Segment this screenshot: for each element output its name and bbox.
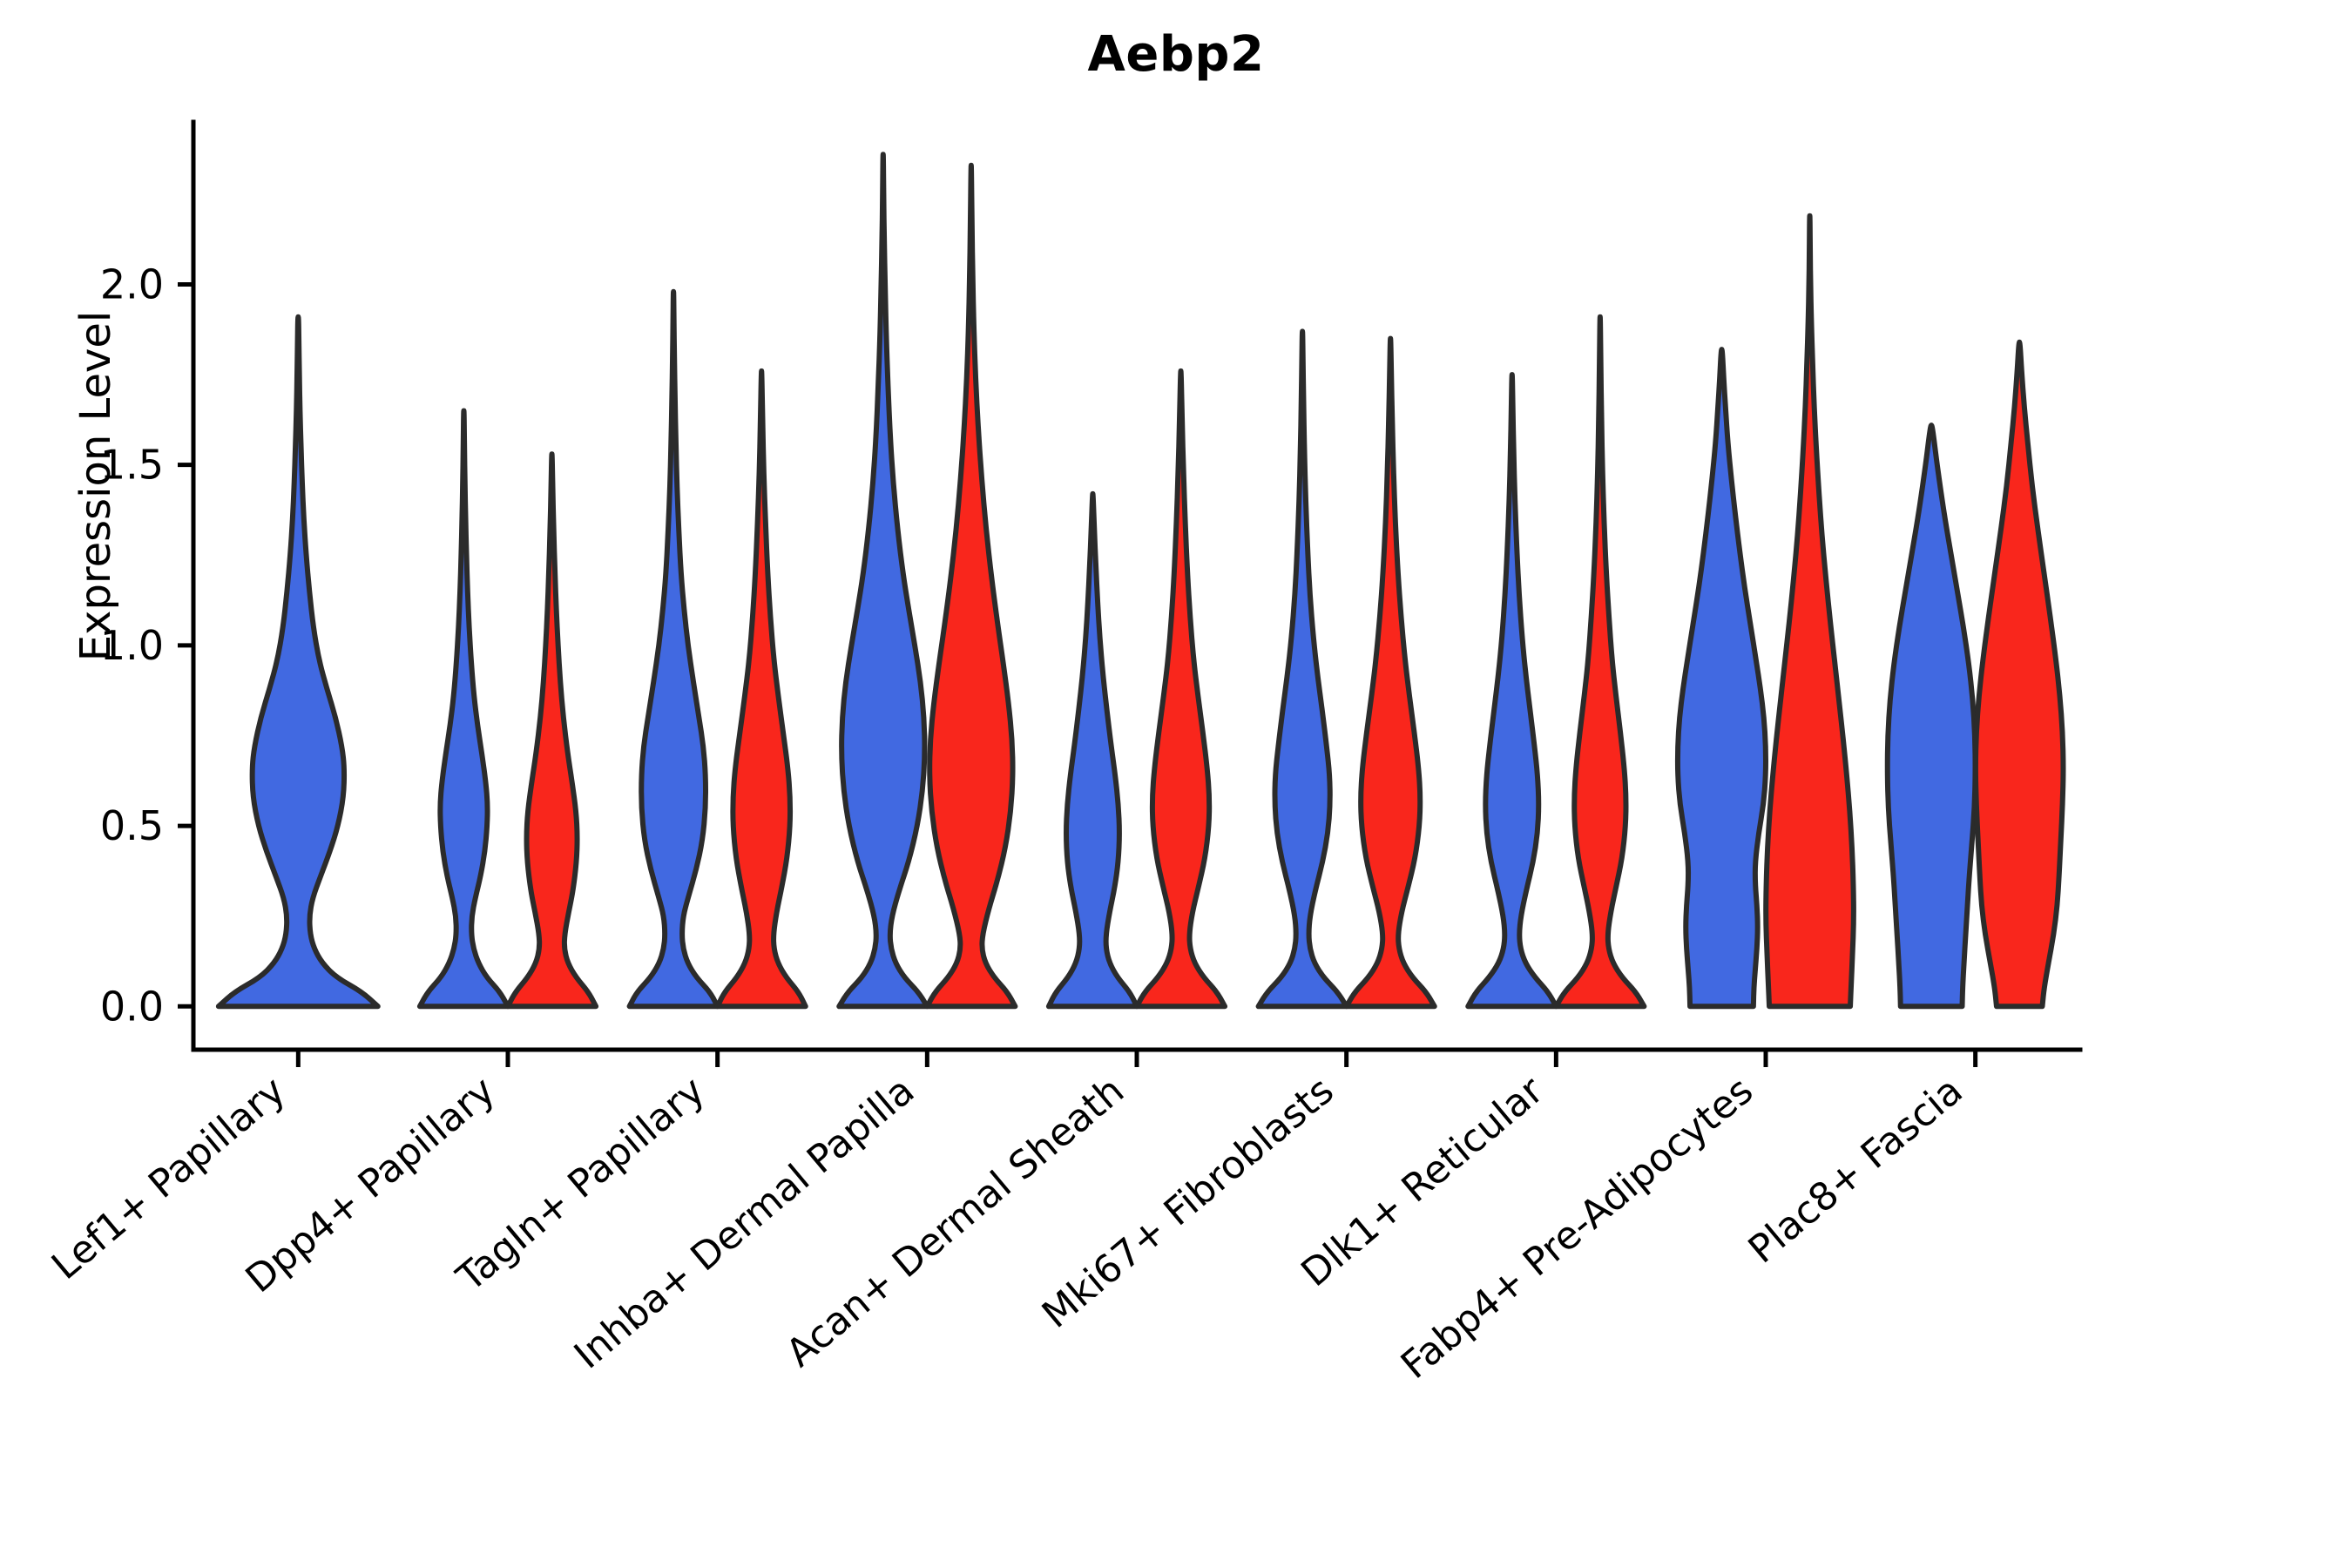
x-tick-labels: Lef1+ PapillaryDpp4+ PapillaryTagIn+ Pap… bbox=[44, 1068, 1971, 1388]
violin-2-b bbox=[508, 454, 596, 1006]
violin-1-a bbox=[219, 317, 378, 1007]
violin-9-a bbox=[1888, 425, 1976, 1006]
x-tick-label-7: Fabp4+ Pre-Adipocytes bbox=[1393, 1068, 1761, 1388]
y-tick-label-4: 2.0 bbox=[100, 260, 164, 308]
violin-9-b bbox=[1976, 342, 2064, 1006]
violin-8-a bbox=[1678, 349, 1766, 1006]
violin-3-a bbox=[630, 292, 718, 1007]
x-tick-label-4: Acan+ Dermal Sheath bbox=[778, 1068, 1132, 1375]
violin-plot-figure: Aebp2 Expression Level 0.00.51.01.52.0 L… bbox=[0, 0, 2352, 1568]
violin-8-b bbox=[1766, 216, 1854, 1007]
y-tick-label-3: 1.5 bbox=[100, 442, 164, 489]
y-tick-labels: 0.00.51.01.52.0 bbox=[100, 260, 164, 1030]
x-tick-label-8: Plac8+ Fascia bbox=[1740, 1068, 1971, 1272]
y-tick-label-2: 1.0 bbox=[100, 622, 164, 669]
violin-5-a bbox=[1049, 494, 1137, 1006]
violin-3-b bbox=[718, 371, 806, 1006]
violin-7-a bbox=[1468, 375, 1556, 1006]
y-tick-label-1: 0.5 bbox=[100, 802, 164, 849]
violin-4-b bbox=[927, 166, 1015, 1007]
violin-2-a bbox=[420, 411, 508, 1007]
plot-canvas: 0.00.51.01.52.0 Lef1+ PapillaryDpp4+ Pap… bbox=[0, 0, 2352, 1568]
violin-4-a bbox=[839, 154, 927, 1006]
violin-6-a bbox=[1259, 331, 1347, 1006]
violin-5-b bbox=[1137, 371, 1225, 1006]
y-tick-label-0: 0.0 bbox=[100, 983, 164, 1030]
violin-6-b bbox=[1347, 339, 1435, 1007]
violin-7-b bbox=[1556, 317, 1644, 1007]
x-tick-label-3: Inhba+ Dermal Papilla bbox=[566, 1068, 923, 1377]
violins-layer bbox=[219, 154, 2064, 1006]
